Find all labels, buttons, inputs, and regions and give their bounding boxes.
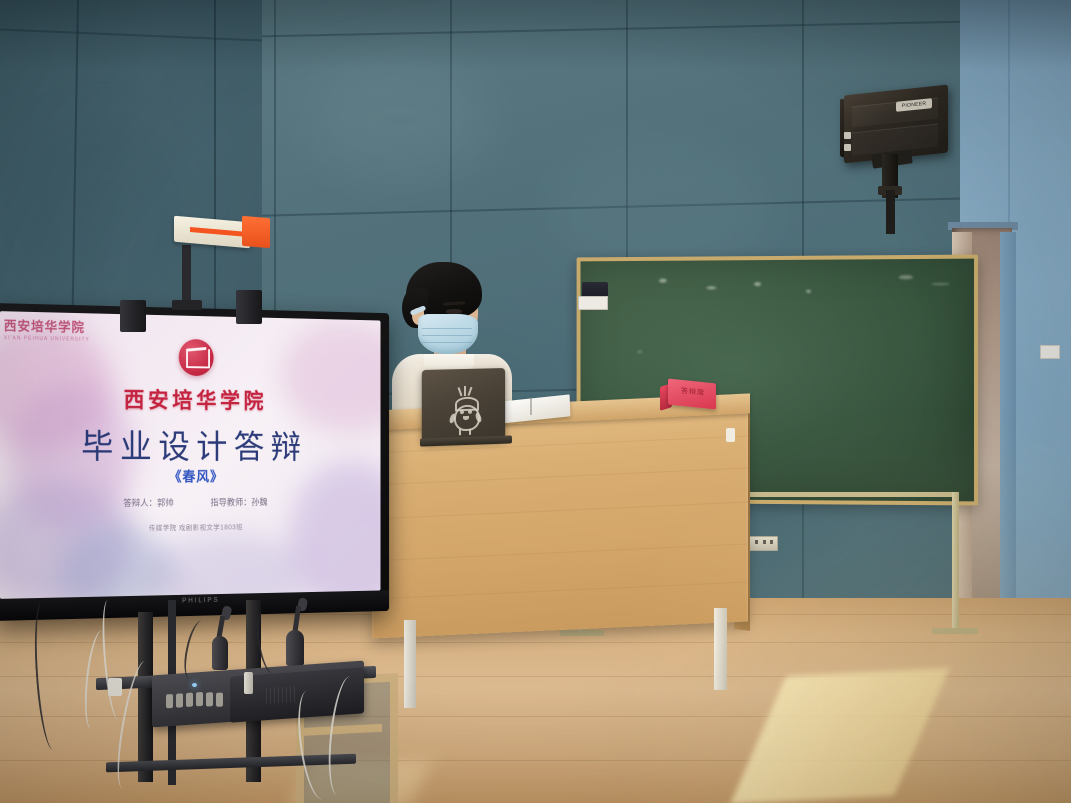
- camera-orange-end: [242, 216, 270, 248]
- chalkboard-leg-right: [952, 492, 959, 632]
- wall-plate: [1040, 345, 1060, 359]
- watermark-cn: 西安培华学院: [4, 315, 110, 336]
- camera-stand-pole: [182, 245, 191, 305]
- chalkboard-foot-right: [932, 628, 978, 634]
- wall-speaker: PIONEER: [838, 86, 962, 206]
- university-logo-icon: [179, 339, 214, 376]
- classroom-photo: PIONEER: [0, 0, 1071, 803]
- small-speaker-right: [236, 290, 262, 324]
- microphone-base-right[interactable]: [286, 630, 304, 666]
- chalkboard-foot-left: [560, 630, 604, 636]
- power-led-indicator: [192, 683, 197, 687]
- small-bottle[interactable]: [244, 672, 253, 694]
- speaker-knob: [844, 132, 851, 139]
- display-screen[interactable]: 西安培华学院 XI'AN PEIHUA UNIVERSITY 西安培华学院 毕业…: [0, 311, 380, 599]
- slide-work-title: 《春风》: [0, 467, 380, 487]
- ceiling-shadow: [0, 0, 1071, 70]
- slide-university-name: 西安培华学院: [0, 381, 380, 416]
- speaker-knob-2: [844, 144, 851, 151]
- microphone-base-left[interactable]: [212, 636, 228, 670]
- door-jamb: [1000, 232, 1016, 624]
- desk-name-card[interactable]: 答辩席: [660, 381, 720, 411]
- power-plug[interactable]: [108, 678, 122, 696]
- eraser-card[interactable]: [578, 296, 608, 310]
- watermark-en: XI'AN PEIHUA UNIVERSITY: [4, 335, 110, 343]
- small-speaker-left: [120, 300, 146, 332]
- document-fold: [530, 397, 532, 415]
- speaker-mount-pole: [886, 190, 895, 234]
- presentation-display[interactable]: 西安培华学院 XI'AN PEIHUA UNIVERSITY 西安培华学院 毕业…: [0, 303, 394, 623]
- laptop[interactable]: [422, 369, 514, 449]
- slide-advisor: 指导教师：孙魏: [210, 495, 267, 508]
- podium-hook: [726, 428, 735, 442]
- surgical-mask-icon: [418, 314, 478, 354]
- document-camera[interactable]: [174, 215, 276, 251]
- podium-leg-right: [714, 608, 727, 690]
- slide-main-title: 毕业设计答辩: [0, 419, 380, 468]
- podium-leg-left: [404, 620, 416, 708]
- slide-presenter: 答辩人：郭帅: [123, 496, 173, 509]
- chick-sticker-icon: [442, 386, 488, 436]
- logo-book-body: [186, 349, 210, 369]
- display-brand-label: PHILIPS: [173, 596, 228, 607]
- camera-stand-base: [172, 300, 202, 310]
- slide-watermark: 西安培华学院 XI'AN PEIHUA UNIVERSITY: [4, 315, 110, 351]
